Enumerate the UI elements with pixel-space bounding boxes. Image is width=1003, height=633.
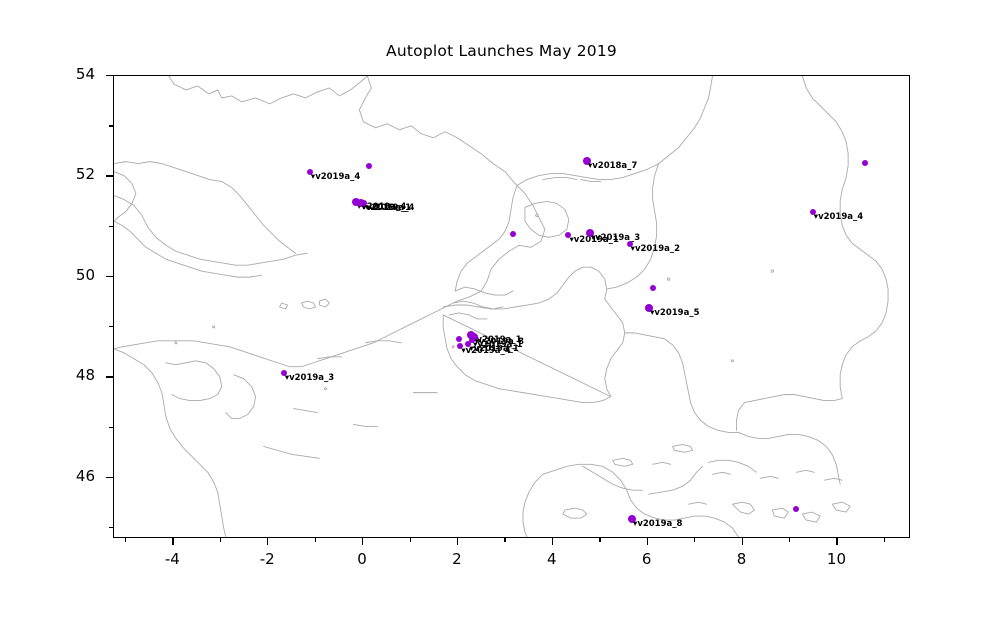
scatter-point-label: ▾v2019a_4 — [814, 213, 863, 222]
scatter-point-label: ▾v2018a_7 — [588, 162, 637, 171]
x-axis-tick — [742, 538, 743, 545]
x-axis-minor-tick — [220, 538, 221, 542]
x-axis-tick-label: 6 — [617, 550, 677, 568]
scatter-point-label: ▾v2019a_3 — [591, 234, 640, 243]
y-axis-tick — [106, 477, 113, 478]
x-axis-tick-label: -2 — [237, 550, 297, 568]
x-axis-tick — [457, 538, 458, 545]
x-axis-tick — [552, 538, 553, 545]
scatter-point-label: ▾v2019a_5 — [650, 309, 699, 318]
x-axis-minor-tick — [694, 538, 695, 542]
x-axis-tick-label: 8 — [712, 550, 772, 568]
scatter-point-label: ▾v2019a_8 — [633, 520, 682, 529]
scatter-point[interactable] — [650, 285, 656, 291]
y-axis-tick — [106, 276, 113, 277]
scatter-point-label: ▾v2019a_3 — [285, 374, 334, 383]
y-axis-tick-label: 52 — [35, 165, 95, 183]
scatter-point-label: ▾v2019a_4 — [311, 173, 360, 182]
x-axis-tick-label: 2 — [427, 550, 487, 568]
scatter-point[interactable] — [862, 160, 868, 166]
y-axis-tick-label: 54 — [35, 65, 95, 83]
x-axis-tick — [647, 538, 648, 545]
page-title: Autoplot Launches May 2019 — [0, 42, 1003, 60]
plot-area: ▾v2019a_4▾v2019a_4▾v2019a_1▾v2019a_4▾v20… — [113, 75, 910, 538]
y-axis-minor-tick — [109, 125, 113, 126]
y-axis-tick-label: 46 — [35, 467, 95, 485]
x-axis-tick-label: -4 — [142, 550, 202, 568]
x-axis-tick-label: 4 — [522, 550, 582, 568]
scatter-point[interactable] — [793, 506, 799, 512]
y-axis-minor-tick — [109, 326, 113, 327]
scatter-point[interactable] — [366, 163, 372, 169]
x-axis-tick — [362, 538, 363, 545]
x-axis-minor-tick — [789, 538, 790, 542]
y-axis-minor-tick — [109, 427, 113, 428]
y-axis-minor-tick — [109, 226, 113, 227]
x-axis-minor-tick — [599, 538, 600, 542]
y-axis-minor-tick — [109, 527, 113, 528]
x-axis-minor-tick — [315, 538, 316, 542]
scatter-point-label: ▾v2019a_1 — [469, 345, 518, 354]
x-axis-tick-label: 0 — [332, 550, 392, 568]
y-axis-tick-label: 48 — [35, 366, 95, 384]
y-axis-tick — [106, 75, 113, 76]
scatter-point-label: ▾v2019a_2 — [631, 245, 680, 254]
x-axis-tick — [267, 538, 268, 545]
x-axis-tick-label: 10 — [806, 550, 866, 568]
scatter-point-label: ▾v2019a_4 — [365, 204, 414, 213]
x-axis-minor-tick — [504, 538, 505, 542]
y-axis-tick — [106, 175, 113, 176]
scatter-point[interactable] — [510, 231, 516, 237]
scatter-points: ▾v2019a_4▾v2019a_4▾v2019a_1▾v2019a_4▾v20… — [114, 76, 909, 537]
x-axis-minor-tick — [410, 538, 411, 542]
x-axis-tick — [172, 538, 173, 545]
x-axis-tick — [836, 538, 837, 545]
y-axis-tick — [106, 376, 113, 377]
x-axis-minor-tick — [884, 538, 885, 542]
x-axis-minor-tick — [125, 538, 126, 542]
scatter-point[interactable] — [456, 336, 462, 342]
y-axis-tick-label: 50 — [35, 266, 95, 284]
figure-canvas: Autoplot Launches May 2019 — [0, 0, 1003, 633]
